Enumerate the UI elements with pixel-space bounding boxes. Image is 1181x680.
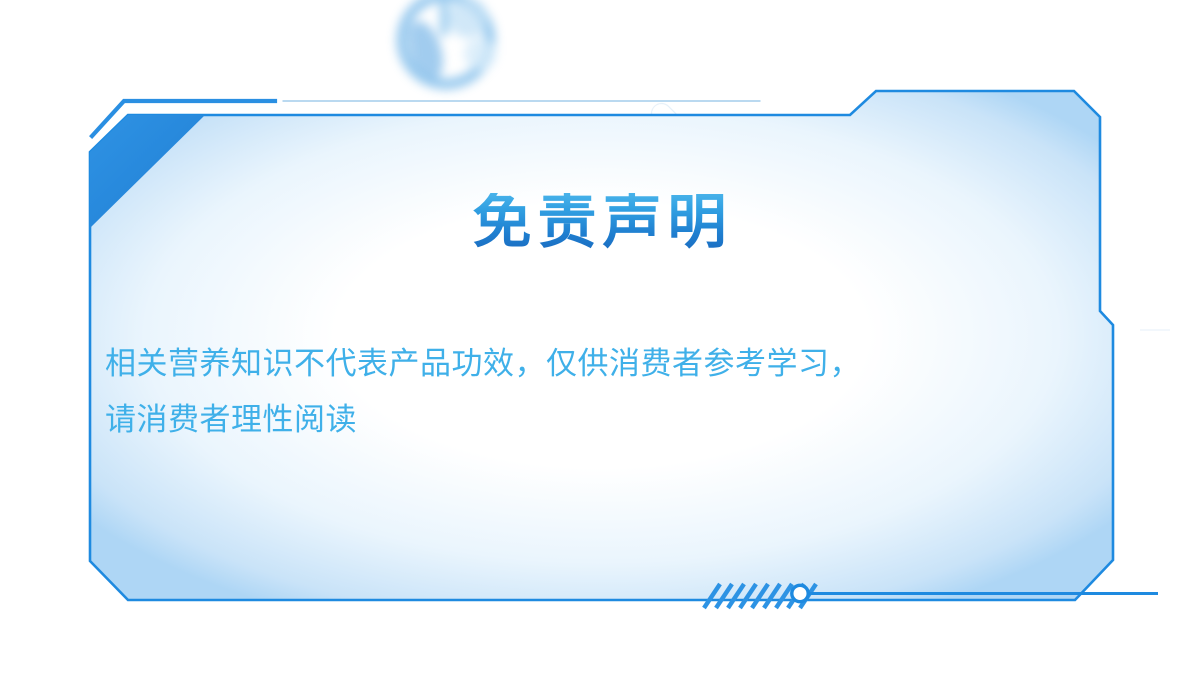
slide-canvas: 免责声明 相关营养知识不代表产品功效，仅供消费者参考学习， 请消费者理性阅读 xyxy=(0,0,1181,680)
disclaimer-body: 相关营养知识不代表产品功效，仅供消费者参考学习， 请消费者理性阅读 xyxy=(105,336,1095,448)
body-line-2: 请消费者理性阅读 xyxy=(105,392,1095,448)
body-line-1: 相关营养知识不代表产品功效，仅供消费者参考学习， xyxy=(105,336,1095,392)
panel-content: 免责声明 相关营养知识不代表产品功效，仅供消费者参考学习， 请消费者理性阅读 xyxy=(90,88,1115,603)
page-title: 免责声明 xyxy=(90,193,1115,252)
